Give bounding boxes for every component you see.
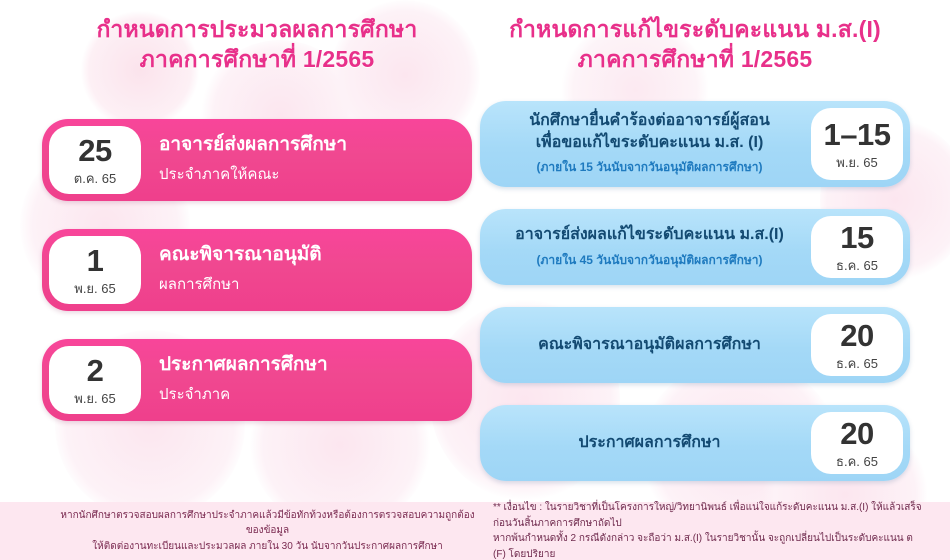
card-text: คณะพิจารณาอนุมัติ ผลการศึกษา [141,229,472,311]
date-badge: 1 พ.ย. 65 [49,236,141,304]
card-line2: ประจำภาค [159,382,472,406]
footer-right-line1: ** เงื่อนไข : ในรายวิชาที่เป็นโครงการใหญ… [493,500,926,531]
date-day: 25 [78,135,111,166]
date-month: ธ.ค. 65 [836,357,878,370]
date-day: 15 [840,222,873,253]
date-day: 20 [840,320,873,351]
card-line1: อาจารย์ส่งผลแก้ไขระดับคะแนน ม.ส.(I) [515,224,784,246]
footer-right-line2: หากพ้นกำหนดทั้ง 2 กรณีดังกล่าว จะถือว่า … [493,531,926,560]
timeline-card-blue[interactable]: คณะพิจารณาอนุมัติผลการศึกษา 20 ธ.ค. 65 [480,307,910,383]
card-text: ประกาศผลการศึกษา [480,405,811,481]
date-badge: 2 พ.ย. 65 [49,346,141,414]
date-month: ต.ค. 65 [74,172,116,185]
timeline-card-pink[interactable]: 2 พ.ย. 65 ประกาศผลการศึกษา ประจำภาค [42,339,472,421]
footer-left-line1: หากนักศึกษาตรวจสอบผลการศึกษาประจำภาคแล้ว… [60,508,475,539]
right-column: กำหนดการแก้ไขระดับคะแนน ม.ส.(I) ภาคการศึ… [480,0,910,503]
date-badge: 15 ธ.ค. 65 [811,216,903,278]
card-line1: ประกาศผลการศึกษา [159,353,472,377]
infographic-root: กำหนดการประมวลผลการศึกษา ภาคการศึกษาที่ … [0,0,950,560]
right-title-line1: กำหนดการแก้ไขระดับคะแนน ม.ส.(I) [509,16,881,42]
footer-left-line2: ให้ติดต่องานทะเบียนและประมวลผล ภายใน 30 … [92,539,442,555]
date-badge: 20 ธ.ค. 65 [811,412,903,474]
date-badge: 20 ธ.ค. 65 [811,314,903,376]
card-line1: คณะพิจารณาอนุมัติผลการศึกษา [538,334,761,356]
date-month: พ.ย. 65 [74,392,115,405]
left-column: กำหนดการประมวลผลการศึกษา ภาคการศึกษาที่ … [42,0,472,449]
card-text: นักศึกษายื่นคำร้องต่ออาจารย์ผู้สอน เพื่อ… [480,101,811,187]
timeline-card-blue[interactable]: อาจารย์ส่งผลแก้ไขระดับคะแนน ม.ส.(I) (ภาย… [480,209,910,285]
left-card-list: 25 ต.ค. 65 อาจารย์ส่งผลการศึกษา ประจำภาค… [42,119,472,421]
timeline-card-pink[interactable]: 1 พ.ย. 65 คณะพิจารณาอนุมัติ ผลการศึกษา [42,229,472,311]
card-text: ประกาศผลการศึกษา ประจำภาค [141,339,472,421]
date-day: 1–15 [824,119,891,150]
date-month: ธ.ค. 65 [836,259,878,272]
card-line1: นักศึกษายื่นคำร้องต่ออาจารย์ผู้สอน [529,110,770,132]
left-title-line2: ภาคการศึกษาที่ 1/2565 [42,44,472,74]
date-month: พ.ย. 65 [74,282,115,295]
right-title-line2: ภาคการศึกษาที่ 1/2565 [480,44,910,74]
date-badge: 1–15 พ.ย. 65 [811,108,903,180]
card-text: อาจารย์ส่งผลแก้ไขระดับคะแนน ม.ส.(I) (ภาย… [480,209,811,285]
card-note: (ภายใน 45 วันนับจากวันอนุมัติผลการศึกษา) [537,251,763,270]
date-day: 20 [840,418,873,449]
date-month: ธ.ค. 65 [836,455,878,468]
right-column-title: กำหนดการแก้ไขระดับคะแนน ม.ส.(I) ภาคการศึ… [480,0,910,75]
card-line2: เพื่อขอแก้ไขระดับคะแนน ม.ส. (I) [536,132,764,154]
date-month: พ.ย. 65 [836,156,877,169]
card-line1: อาจารย์ส่งผลการศึกษา [159,133,472,157]
card-text: อาจารย์ส่งผลการศึกษา ประจำภาคให้คณะ [141,119,472,201]
card-line2: ประจำภาคให้คณะ [159,162,472,186]
card-line1: คณะพิจารณาอนุมัติ [159,243,472,267]
timeline-card-pink[interactable]: 25 ต.ค. 65 อาจารย์ส่งผลการศึกษา ประจำภาค… [42,119,472,201]
footer-left-note: หากนักศึกษาตรวจสอบผลการศึกษาประจำภาคแล้ว… [0,502,475,560]
date-day: 2 [87,355,104,386]
card-line1: ประกาศผลการศึกษา [579,432,721,454]
footer-right-note: ** เงื่อนไข : ในรายวิชาที่เป็นโครงการใหญ… [475,502,950,560]
left-title-line1: กำหนดการประมวลผลการศึกษา [96,16,417,42]
card-text: คณะพิจารณาอนุมัติผลการศึกษา [480,307,811,383]
footer-bar: หากนักศึกษาตรวจสอบผลการศึกษาประจำภาคแล้ว… [0,502,950,560]
date-badge: 25 ต.ค. 65 [49,126,141,194]
left-column-title: กำหนดการประมวลผลการศึกษา ภาคการศึกษาที่ … [42,0,472,75]
card-line2: ผลการศึกษา [159,272,472,296]
card-note: (ภายใน 15 วันนับจากวันอนุมัติผลการศึกษา) [537,158,763,177]
timeline-card-blue[interactable]: นักศึกษายื่นคำร้องต่ออาจารย์ผู้สอน เพื่อ… [480,101,910,187]
timeline-card-blue[interactable]: ประกาศผลการศึกษา 20 ธ.ค. 65 [480,405,910,481]
date-day: 1 [87,245,104,276]
right-card-list: นักศึกษายื่นคำร้องต่ออาจารย์ผู้สอน เพื่อ… [480,101,910,481]
